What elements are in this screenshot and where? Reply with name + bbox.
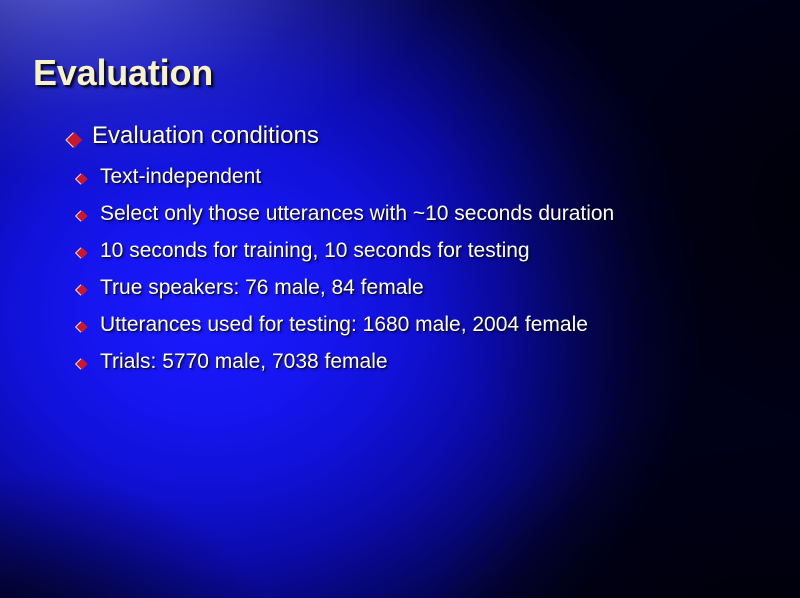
presentation-slide: Evaluation Evaluation conditions Text-in… (0, 0, 800, 598)
list-item: Trials: 5770 male, 7038 female (0, 345, 800, 382)
red-diamond-bullet-icon (76, 247, 87, 258)
list-item: Text-independent (0, 160, 800, 197)
list-item-label: True speakers: 76 male, 84 female (100, 271, 424, 304)
red-diamond-bullet-icon (76, 321, 87, 332)
list-item-label: Evaluation conditions (92, 119, 319, 153)
red-diamond-bullet-icon (76, 358, 87, 369)
list-item: True speakers: 76 male, 84 female (0, 271, 800, 308)
list-item-label: Text-independent (100, 160, 261, 193)
list-item: Evaluation conditions (0, 119, 800, 160)
list-item-label: 10 seconds for training, 10 seconds for … (100, 234, 530, 267)
slide-content: Evaluation Evaluation conditions Text-in… (0, 0, 800, 598)
list-item: Utterances used for testing: 1680 male, … (0, 308, 800, 345)
list-item: Select only those utterances with ~10 se… (0, 197, 800, 234)
list-item-label: Select only those utterances with ~10 se… (100, 197, 614, 230)
red-diamond-bullet-icon (76, 210, 87, 221)
red-diamond-bullet-icon (76, 173, 87, 184)
list-item-label: Trials: 5770 male, 7038 female (100, 345, 388, 378)
slide-title: Evaluation (33, 52, 213, 94)
red-diamond-bullet-icon (67, 132, 83, 148)
red-diamond-bullet-icon (76, 284, 87, 295)
bullet-list: Evaluation conditions Text-independent S… (0, 119, 800, 382)
list-item-label: Utterances used for testing: 1680 male, … (100, 308, 588, 341)
list-item: 10 seconds for training, 10 seconds for … (0, 234, 800, 271)
